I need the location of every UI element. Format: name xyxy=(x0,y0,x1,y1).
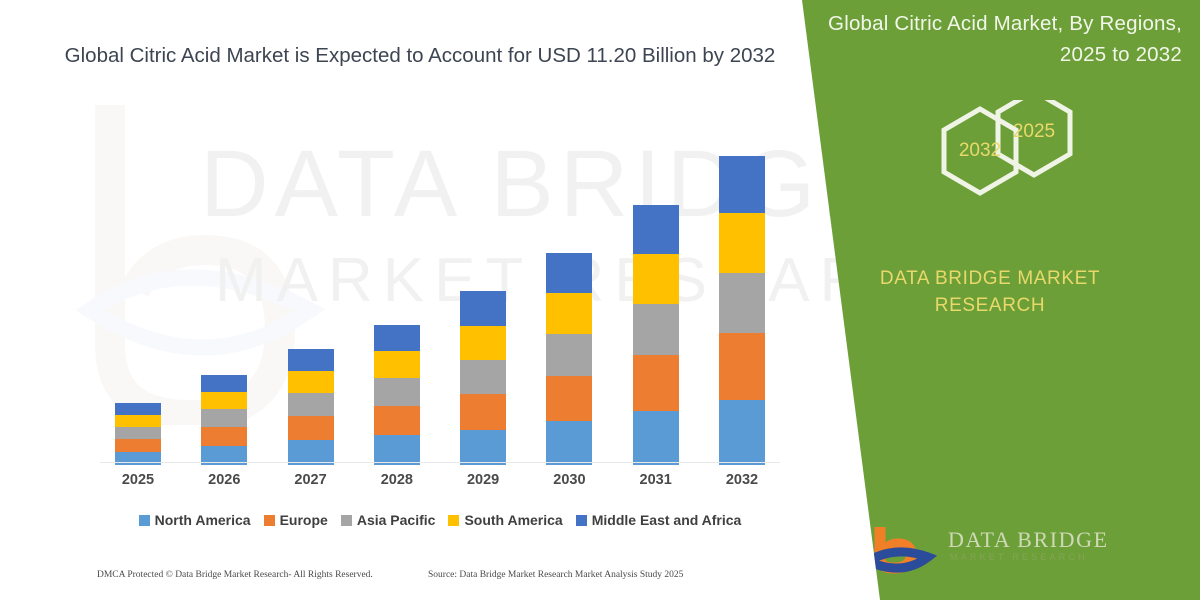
bar-segment xyxy=(719,213,765,273)
x-axis-label: 2027 xyxy=(273,472,349,488)
brand-wordmark: DATA BRIDGE MARKET RESEARCH xyxy=(780,265,1200,319)
stacked-bar xyxy=(374,325,420,465)
bar-segment xyxy=(460,291,506,326)
stacked-bar xyxy=(201,375,247,465)
footer-source: Source: Data Bridge Market Research Mark… xyxy=(428,570,683,580)
bar-segment xyxy=(288,416,334,440)
bar-segment xyxy=(633,254,679,304)
company-logo: DATA BRIDGE MARKET RESEARCH xyxy=(862,523,1162,581)
x-axis-label: 2028 xyxy=(359,472,435,488)
bar-segment xyxy=(115,452,161,465)
bar-segment xyxy=(374,406,420,435)
brand-panel: Global Citric Acid Market, By Regions, 2… xyxy=(780,0,1200,600)
bar-segment xyxy=(460,360,506,394)
bar-segment xyxy=(719,333,765,400)
bar-segment xyxy=(633,205,679,254)
panel-title: Global Citric Acid Market, By Regions, 2… xyxy=(780,8,1182,70)
legend-item[interactable]: South America xyxy=(448,512,562,528)
bar-segment xyxy=(460,430,506,465)
bar-segment xyxy=(288,371,334,393)
bar-segment xyxy=(633,411,679,465)
bar-segment xyxy=(546,253,592,293)
bar-segment xyxy=(546,376,592,421)
bar-segment xyxy=(719,156,765,213)
legend-swatch xyxy=(341,515,352,526)
bar-column xyxy=(100,143,176,465)
bar-segment xyxy=(201,375,247,392)
x-axis-labels: 20252026202720282029203020312032 xyxy=(100,472,780,488)
bar-segment xyxy=(546,421,592,465)
legend-swatch xyxy=(448,515,459,526)
footer-copyright: DMCA Protected © Data Bridge Market Rese… xyxy=(97,570,373,580)
brand-wordmark-line-1: DATA BRIDGE MARKET xyxy=(880,268,1100,289)
legend-swatch xyxy=(576,515,587,526)
bar-segment xyxy=(288,393,334,416)
data-bridge-logo-icon xyxy=(862,523,948,581)
stacked-bar xyxy=(719,156,765,465)
bar-segment xyxy=(546,334,592,376)
bar-column xyxy=(273,143,349,465)
bar-segment xyxy=(201,392,247,409)
legend-label: Asia Pacific xyxy=(357,512,436,528)
bar-column xyxy=(704,143,780,465)
bar-segment xyxy=(374,435,420,465)
legend-swatch xyxy=(139,515,150,526)
x-axis-label: 2030 xyxy=(531,472,607,488)
infographic-canvas: DATA BRIDGE MARKET RESEARCH Global Citri… xyxy=(0,0,1200,600)
bar-segment xyxy=(115,415,161,427)
bar-segment xyxy=(374,378,420,406)
bar-segment xyxy=(633,355,679,411)
legend-item[interactable]: Middle East and Africa xyxy=(576,512,742,528)
stacked-bar xyxy=(460,291,506,465)
chart-legend: North AmericaEuropeAsia PacificSouth Ame… xyxy=(100,512,780,528)
bar-segment xyxy=(460,394,506,430)
bar-segment xyxy=(719,273,765,333)
brand-wordmark-line-2: RESEARCH xyxy=(780,292,1200,319)
bar-column xyxy=(445,143,521,465)
x-axis-label: 2026 xyxy=(186,472,262,488)
hexagon-2032-label: 2032 xyxy=(944,140,1016,162)
bar-segment xyxy=(374,325,420,351)
bar-column xyxy=(186,143,262,465)
bar-segment xyxy=(460,326,506,360)
legend-label: Europe xyxy=(280,512,328,528)
hexagon-2025-label: 2025 xyxy=(998,121,1070,143)
x-axis-line xyxy=(100,462,780,463)
legend-label: Middle East and Africa xyxy=(592,512,742,528)
bar-segment xyxy=(201,409,247,427)
bar-segment xyxy=(374,351,420,378)
bar-column xyxy=(359,143,435,465)
legend-item[interactable]: Asia Pacific xyxy=(341,512,436,528)
x-axis-label: 2032 xyxy=(704,472,780,488)
x-axis-label: 2029 xyxy=(445,472,521,488)
stacked-bar xyxy=(115,403,161,465)
bar-segment xyxy=(288,349,334,371)
stacked-bar-chart xyxy=(100,140,780,465)
hexagon-badges: 2032 2025 xyxy=(892,100,1092,230)
legend-item[interactable]: Europe xyxy=(264,512,328,528)
chart-plot-area xyxy=(100,143,780,465)
logo-tagline: MARKET RESEARCH xyxy=(950,552,1088,562)
legend-label: North America xyxy=(155,512,251,528)
legend-label: South America xyxy=(464,512,562,528)
bar-segment xyxy=(633,304,679,355)
bar-segment xyxy=(115,427,161,439)
stacked-bar xyxy=(633,205,679,465)
bar-segment xyxy=(115,403,161,415)
stacked-bar xyxy=(546,253,592,465)
page-title: Global Citric Acid Market is Expected to… xyxy=(60,40,780,71)
bar-segment xyxy=(546,293,592,334)
bar-column xyxy=(618,143,694,465)
x-axis-label: 2025 xyxy=(100,472,176,488)
x-axis-label: 2031 xyxy=(618,472,694,488)
stacked-bar xyxy=(288,349,334,465)
legend-swatch xyxy=(264,515,275,526)
logo-wordmark: DATA BRIDGE xyxy=(948,527,1109,553)
bar-segment xyxy=(719,400,765,465)
bar-segment xyxy=(201,427,247,446)
bar-column xyxy=(531,143,607,465)
bar-segment xyxy=(115,439,161,452)
legend-item[interactable]: North America xyxy=(139,512,251,528)
